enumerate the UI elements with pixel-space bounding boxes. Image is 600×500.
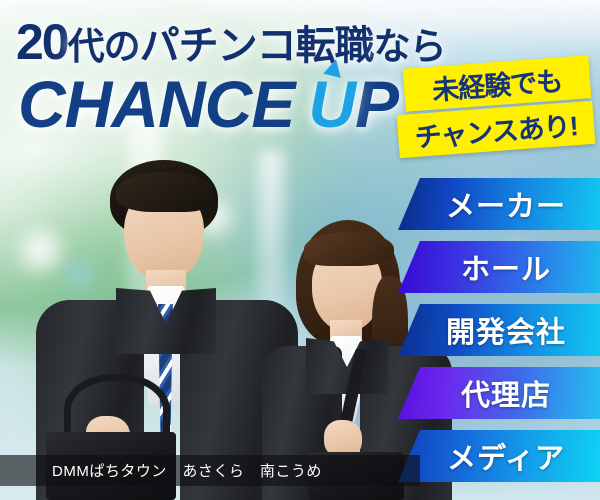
category-button-label: 開発会社	[432, 309, 566, 351]
woman-fringe	[304, 232, 394, 266]
photo-person-man	[20, 160, 280, 500]
category-button-agency[interactable]: 代理店	[398, 367, 600, 419]
headline-number: 20	[16, 14, 68, 70]
brand-u-letter: U	[308, 67, 355, 141]
headline-line-1: 20代のパチンコ転職なら	[16, 13, 446, 71]
category-button-development-company[interactable]: 開発会社	[398, 304, 600, 356]
category-button-label: 代理店	[447, 372, 551, 414]
category-button-hall[interactable]: ホール	[398, 241, 600, 293]
man-fringe	[116, 172, 214, 212]
category-button-label: メディア	[433, 435, 565, 477]
brand-u-text: U	[308, 67, 355, 141]
category-button-media[interactable]: メディア	[398, 430, 600, 482]
brand-p-text: P	[355, 67, 398, 141]
category-button-list: メーカー ホール 開発会社 代理店 メディア	[398, 178, 600, 493]
caption-text: DMMぱちタウン あさくら 南こうめ	[0, 460, 322, 481]
promo-banner: 20代のパチンコ転職なら CHANCEUP 未経験でも チャンスあり! メーカー…	[0, 0, 600, 500]
caption-bar: DMMぱちタウン あさくら 南こうめ	[0, 455, 420, 486]
category-button-label: メーカー	[432, 183, 566, 225]
brand-chance-text: CHANCE	[18, 67, 294, 141]
headline-line-2: CHANCEUP	[18, 66, 398, 142]
badge-label: 未経験でも	[431, 59, 564, 107]
category-button-label: ホール	[447, 246, 551, 288]
category-button-maker[interactable]: メーカー	[398, 178, 600, 230]
headline-age-suffix: 代の	[68, 26, 140, 67]
headline-particle: なら	[374, 26, 446, 67]
